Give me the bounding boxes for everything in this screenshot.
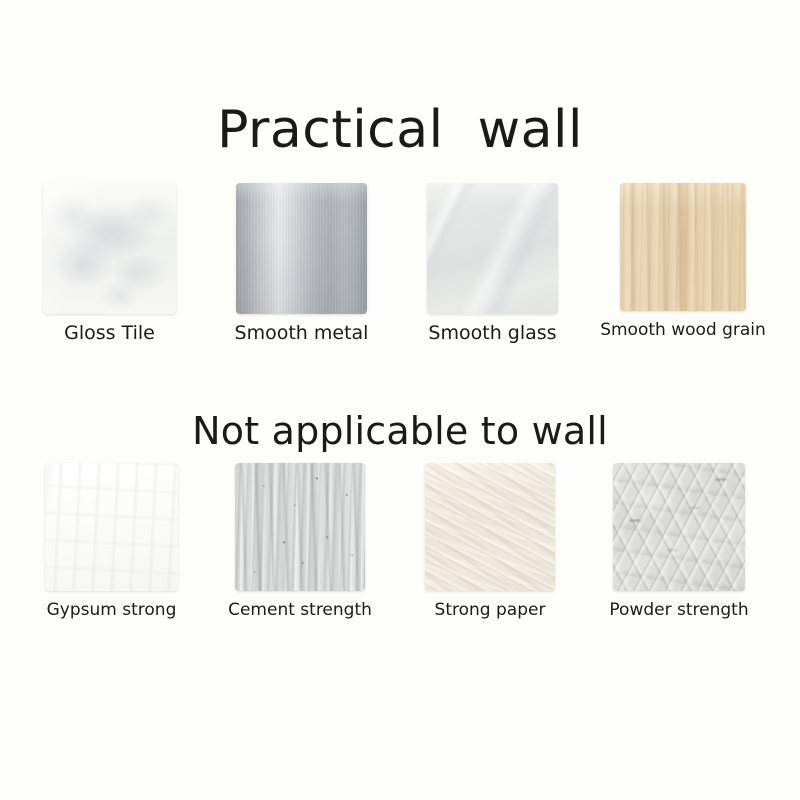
swatch-label-strong-paper: Strong paper (435, 599, 546, 621)
swatch-item-gypsum-strong[interactable]: Gypsum strong (45, 463, 178, 591)
swatch-label-smooth-glass: Smooth glass (428, 322, 556, 344)
swatch-item-strong-paper[interactable]: Strong paper (425, 463, 555, 591)
cement-swatch[interactable] (235, 463, 365, 591)
swatch-label-powder-strength: Powder strength (609, 599, 748, 621)
not-applicable-heading: Not applicable to wall (0, 408, 800, 454)
swatch-label-smooth-metal: Smooth metal (235, 322, 369, 344)
smooth-wood-grain-swatch[interactable] (620, 183, 746, 311)
not-applicable-swatch-row: Gypsum strong Cement strength Strong pap… (0, 463, 800, 633)
swatch-item-powder-strength[interactable]: Powder strength (613, 463, 745, 591)
material-comparison-page: Practical wall Gloss Tile Smooth metal S… (0, 0, 800, 800)
gypsum-swatch[interactable] (45, 463, 178, 591)
swatch-item-smooth-wood-grain[interactable]: Smooth wood grain (620, 183, 746, 311)
smooth-metal-swatch[interactable] (236, 183, 367, 314)
swatch-item-smooth-glass[interactable]: Smooth glass (427, 183, 558, 314)
powder-swatch[interactable] (613, 463, 745, 591)
swatch-item-smooth-metal[interactable]: Smooth metal (236, 183, 367, 314)
swatch-label-gypsum-strong: Gypsum strong (47, 599, 177, 621)
smooth-glass-swatch[interactable] (427, 183, 558, 314)
swatch-label-cement-strength: Cement strength (228, 599, 372, 621)
swatch-item-gloss-tile[interactable]: Gloss Tile (43, 183, 176, 314)
practical-wall-swatch-row: Gloss Tile Smooth metal Smooth glass Smo… (0, 183, 800, 353)
gloss-tile-swatch[interactable] (43, 183, 176, 314)
swatch-item-cement-strength[interactable]: Cement strength (235, 463, 365, 591)
paper-swatch[interactable] (425, 463, 555, 591)
swatch-label-smooth-wood-grain: Smooth wood grain (600, 319, 766, 341)
swatch-label-gloss-tile: Gloss Tile (64, 322, 155, 344)
practical-wall-heading: Practical wall (0, 99, 800, 161)
